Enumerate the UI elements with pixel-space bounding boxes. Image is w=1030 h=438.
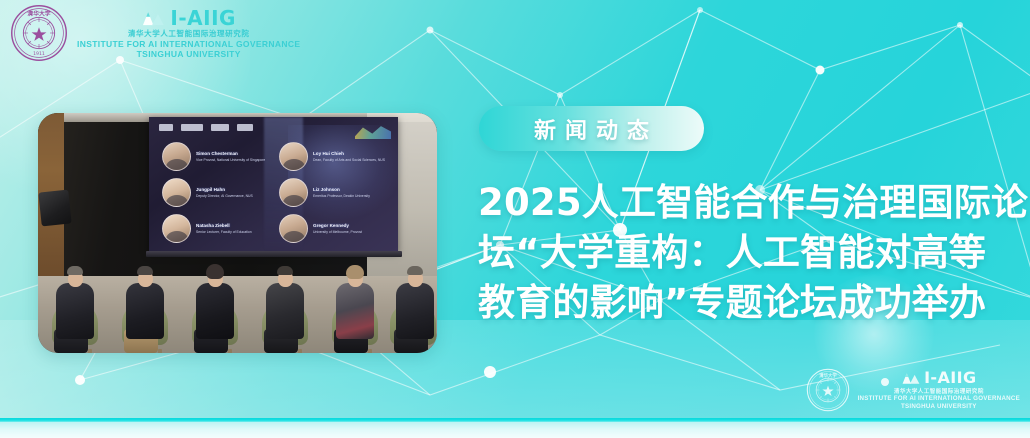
news-banner: 清华大学 1911 I-AIIG 清华大学人工智能国际治理研究院 INSTITU… bbox=[0, 0, 1030, 438]
panelist-person bbox=[254, 238, 320, 353]
panelist-name: Jungpil Hahn bbox=[196, 187, 253, 193]
panelist-person bbox=[388, 238, 437, 353]
mountain-peaks-icon bbox=[901, 370, 922, 386]
svg-text:清华大学: 清华大学 bbox=[27, 10, 50, 18]
panelist-name: Natasha Ziebell bbox=[196, 223, 252, 229]
brand-text-block: I-AIIG 清华大学人工智能国际治理研究院 INSTITUTE FOR AI … bbox=[858, 370, 1020, 410]
panelist-avatar bbox=[279, 142, 308, 171]
panel-discussion-photo[interactable]: Simon Chesterman Vice Provost, National … bbox=[38, 113, 437, 353]
brand-en-line2: TSINGHUA UNIVERSITY bbox=[901, 403, 977, 410]
panelist-role: Emeritus Professor, Deakin University bbox=[313, 194, 370, 198]
speaker-box bbox=[38, 190, 71, 227]
panelist-avatar bbox=[162, 178, 191, 207]
panelist-role: Deputy Director, AI Governance, NUS bbox=[196, 194, 253, 198]
iaiig-wordmark: I-AIIG bbox=[901, 370, 976, 386]
brand-en-line2: TSINGHUA UNIVERSITY bbox=[137, 50, 241, 60]
panelist-person bbox=[184, 238, 250, 353]
panelist-person bbox=[114, 238, 180, 353]
slide-panelist: Simon Chesterman Vice Provost, National … bbox=[162, 139, 273, 174]
panelist-avatar bbox=[279, 178, 308, 207]
news-badge-label: 新闻动态 bbox=[525, 113, 658, 145]
panelist-name: Liz Johnson bbox=[313, 187, 370, 193]
slide-logo-strip bbox=[159, 124, 253, 131]
tsinghua-seal-icon: 清华大学 bbox=[806, 368, 850, 412]
slide-panelist: Loy Hui Chieh Dean, Faculty of Arts and … bbox=[279, 139, 390, 174]
projection-screen: Simon Chesterman Vice Provost, National … bbox=[149, 117, 398, 252]
panelist-role: Vice Provost, National University of Sin… bbox=[196, 158, 265, 162]
brand-en-line1: INSTITUTE FOR AI INTERNATIONAL GOVERNANC… bbox=[858, 395, 1020, 402]
brand-wordmark-text: I-AIIG bbox=[170, 8, 236, 28]
brand-text-block: I-AIIG 清华大学人工智能国际治理研究院 INSTITUTE FOR AI … bbox=[77, 6, 300, 60]
slide-panelist-grid: Simon Chesterman Vice Provost, National … bbox=[162, 139, 390, 246]
panelist-person bbox=[324, 238, 390, 353]
panelist-role: Dean, Faculty of Arts and Social Science… bbox=[313, 158, 385, 162]
brand-cn-name: 清华大学人工智能国际治理研究院 bbox=[894, 387, 984, 395]
panelist-role: Senior Lecturer, Faculty of Education bbox=[196, 230, 252, 234]
brand-wordmark-text: I-AIIG bbox=[924, 370, 976, 386]
svg-text:1911: 1911 bbox=[33, 51, 45, 57]
headline-line-1: 2025人工智能合作与治理国际论 bbox=[478, 178, 1026, 228]
headline-line-2: 坛“大学重构：人工智能对高等 bbox=[478, 228, 1026, 278]
brand-cn-name: 清华大学人工智能国际治理研究院 bbox=[128, 30, 250, 38]
panelists-row bbox=[38, 238, 437, 353]
headline-line-3: 教育的影响”专题论坛成功举办 bbox=[478, 278, 1026, 328]
panelist-name: Gregor Kennedy bbox=[313, 223, 362, 229]
panelist-name: Loy Hui Chieh bbox=[313, 151, 385, 157]
panelist-avatar bbox=[162, 142, 191, 171]
bottom-accent-rule bbox=[0, 418, 1030, 422]
panelist-name: Simon Chesterman bbox=[196, 151, 265, 157]
photo-content: Simon Chesterman Vice Provost, National … bbox=[38, 113, 437, 353]
bottom-fade-strip bbox=[0, 422, 1030, 438]
mountain-peaks-icon bbox=[141, 8, 167, 28]
tsinghua-seal-icon: 清华大学 1911 bbox=[10, 4, 68, 62]
slide-panelist: Liz Johnson Emeritus Professor, Deakin U… bbox=[279, 175, 390, 210]
page-title: 2025人工智能合作与治理国际论 坛“大学重构：人工智能对高等 教育的影响”专题… bbox=[478, 178, 1026, 328]
panelist-role: University of Melbourne, Provost bbox=[313, 230, 362, 234]
news-category-badge[interactable]: 新闻动态 bbox=[479, 106, 704, 151]
iaiig-wordmark: I-AIIG bbox=[141, 8, 236, 28]
brand-lockup-top: 清华大学 1911 I-AIIG 清华大学人工智能国际治理研究院 INSTITU… bbox=[10, 4, 300, 62]
slide-panelist: Jungpil Hahn Deputy Director, AI Governa… bbox=[162, 175, 273, 210]
brand-lockup-bottom: 清华大学 I-AIIG 清华大学人工智能国际治理研究院 INSTITUTE FO… bbox=[806, 368, 1020, 412]
panelist-person bbox=[44, 238, 110, 353]
